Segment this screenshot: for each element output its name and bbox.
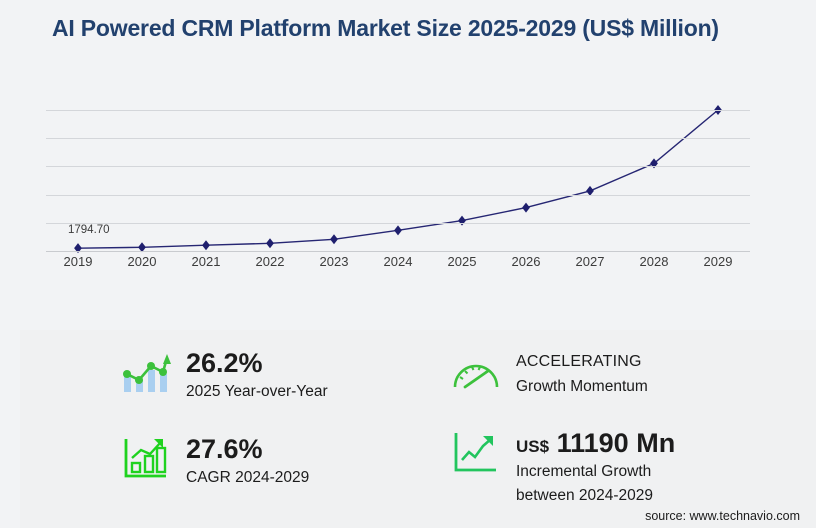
chart-gridline [46, 195, 750, 196]
stat-caption-line2: between 2024-2029 [516, 486, 675, 506]
stat-value: US$ 11190 Mn [516, 429, 675, 458]
chart-data-point[interactable] [522, 203, 530, 213]
stat-card-yoy-text: 26.2% 2025 Year-over-Year [186, 348, 328, 402]
x-axis-tick-label: 2026 [512, 254, 541, 269]
cagr-bar-chart-arrow-icon [120, 434, 172, 482]
x-axis-tick-label: 2029 [704, 254, 733, 269]
chart-plot-area: 1794.70 [46, 110, 750, 252]
x-axis-tick-label: 2024 [384, 254, 413, 269]
chart-point-label: 1794.70 [68, 224, 110, 236]
x-axis-tick-label: 2021 [192, 254, 221, 269]
chart-gridline [46, 138, 750, 139]
stat-card-cagr-text: 27.6% CAGR 2024-2029 [186, 434, 309, 488]
stat-caption-line1: Incremental Growth [516, 462, 675, 482]
chart-data-point[interactable] [330, 234, 338, 244]
stat-value-unit: US$ [516, 437, 549, 456]
speedometer-gauge-icon [450, 350, 502, 398]
chart-gridline [46, 166, 750, 167]
stat-caption: CAGR 2024-2029 [186, 468, 309, 488]
x-axis-tick-label: 2025 [448, 254, 477, 269]
chart-axis-line [46, 251, 750, 252]
stat-card-incremental-growth-text: US$ 11190 Mn Incremental Growth between … [516, 428, 675, 507]
stat-value: 26.2% [186, 349, 328, 378]
stat-head: ACCELERATING [516, 351, 648, 373]
stat-card-momentum-text: ACCELERATING Growth Momentum [516, 350, 648, 397]
chart-data-point[interactable] [394, 225, 402, 235]
chart-gridline [46, 110, 750, 111]
stat-card-yoy: 26.2% 2025 Year-over-Year [120, 348, 328, 402]
x-axis-tick-label: 2022 [256, 254, 285, 269]
page-title: AI Powered CRM Platform Market Size 2025… [52, 14, 752, 43]
chart-x-axis: 2019202020212022202320242025202620272028… [46, 254, 750, 278]
chart-gridline [46, 223, 750, 224]
stat-card-incremental-growth: US$ 11190 Mn Incremental Growth between … [450, 428, 675, 507]
stat-caption: Growth Momentum [516, 377, 648, 397]
chart-data-point[interactable] [202, 240, 210, 250]
stats-panel: 26.2% 2025 Year-over-Year 27.6% CAGR 202… [20, 330, 816, 528]
chart-series-line [46, 110, 750, 252]
stat-card-momentum: ACCELERATING Growth Momentum [450, 350, 648, 398]
bar-chart-trend-up-icon [120, 348, 172, 396]
stat-card-cagr: 27.6% CAGR 2024-2029 [120, 434, 309, 488]
incremental-growth-line-icon [450, 428, 502, 476]
stat-caption: 2025 Year-over-Year [186, 382, 328, 402]
stat-value-amount: 11190 Mn [557, 428, 676, 458]
chart-data-point[interactable] [458, 216, 466, 226]
source-credit: source: www.technavio.com [645, 509, 800, 523]
x-axis-tick-label: 2023 [320, 254, 349, 269]
x-axis-tick-label: 2027 [576, 254, 605, 269]
x-axis-tick-label: 2020 [128, 254, 157, 269]
chart-data-point[interactable] [266, 238, 274, 248]
x-axis-tick-label: 2028 [640, 254, 669, 269]
stat-value: 27.6% [186, 435, 309, 464]
line-chart: 1794.70 20192020202120222023202420252026… [0, 96, 816, 286]
chart-page: AI Powered CRM Platform Market Size 2025… [0, 0, 816, 528]
x-axis-tick-label: 2019 [64, 254, 93, 269]
